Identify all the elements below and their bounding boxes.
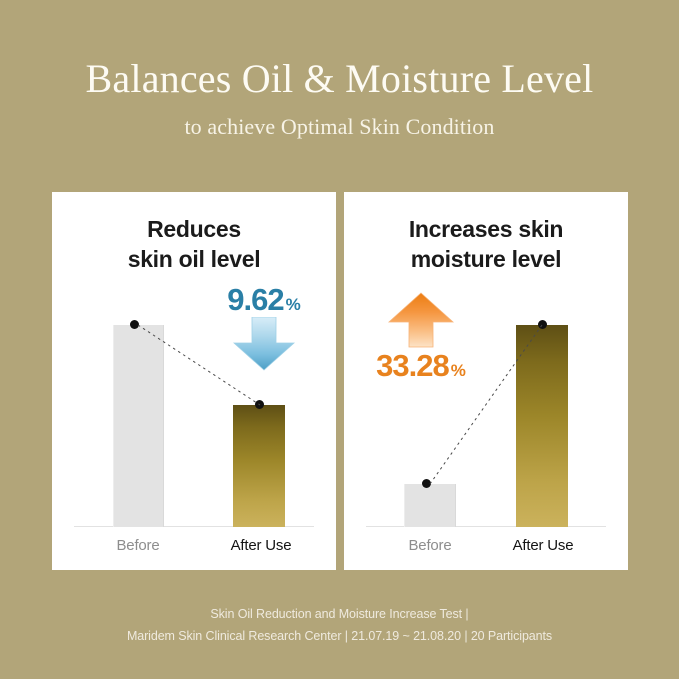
bar-before-skin-moisture [404, 484, 456, 527]
panel-title-line2: skin oil level [52, 244, 336, 274]
data-point-after-skin-oil [255, 400, 264, 409]
arrow-down-wrapper [204, 317, 324, 371]
stat-value-increase: 33.28 [376, 350, 449, 381]
stat-value-decrease: 9.62 [227, 284, 283, 315]
panel-title-skin-moisture: Increases skin moisture level [344, 214, 628, 275]
axis-label-before-skin-oil: Before [98, 537, 178, 554]
bar-before-skin-oil [113, 325, 164, 527]
arrow-up-icon [388, 292, 454, 348]
stat-callout-decrease: 9.62% [204, 284, 324, 371]
panel-title-skin-oil: Reduces skin oil level [52, 214, 336, 275]
panel-title-line1: Increases skin [344, 214, 628, 244]
stat-callout-increase: 33.28% [356, 292, 486, 381]
stat-number-row: 33.28% [376, 350, 466, 381]
page-subtitle: to achieve Optimal Skin Condition [0, 102, 679, 140]
axis-label-before-skin-moisture: Before [390, 537, 470, 554]
data-point-before-skin-moisture [422, 479, 431, 488]
arrow-down-icon [233, 317, 295, 371]
stat-number-row: 9.62% [204, 284, 324, 315]
chart-panels: Reduces skin oil level 9.62% [52, 192, 628, 570]
axis-label-after-skin-moisture: After Use [498, 537, 588, 554]
bar-after-skin-oil [233, 405, 285, 527]
footer-line-1: Skin Oil Reduction and Moisture Increase… [0, 604, 679, 626]
data-point-before-skin-oil [130, 320, 139, 329]
page-title: Balances Oil & Moisture Level [0, 0, 679, 102]
panel-title-line1: Reduces [52, 214, 336, 244]
stat-unit-increase: % [451, 361, 466, 381]
bar-after-skin-moisture [516, 325, 568, 527]
stat-unit-decrease: % [286, 295, 301, 315]
header: Balances Oil & Moisture Level to achieve… [0, 0, 679, 140]
chart-baseline [74, 526, 314, 527]
arrow-up-wrapper [356, 292, 486, 350]
footer-note: Skin Oil Reduction and Moisture Increase… [0, 604, 679, 648]
axis-label-after-skin-oil: After Use [216, 537, 306, 554]
data-point-after-skin-moisture [538, 320, 547, 329]
chart-baseline [366, 526, 606, 527]
panel-title-line2: moisture level [344, 244, 628, 274]
footer-line-2: Maridem Skin Clinical Research Center | … [0, 626, 679, 648]
panel-skin-moisture: Increases skin moisture level [344, 192, 628, 570]
stat-stack-increase: 33.28% [356, 292, 486, 381]
panel-skin-oil: Reduces skin oil level 9.62% [52, 192, 336, 570]
